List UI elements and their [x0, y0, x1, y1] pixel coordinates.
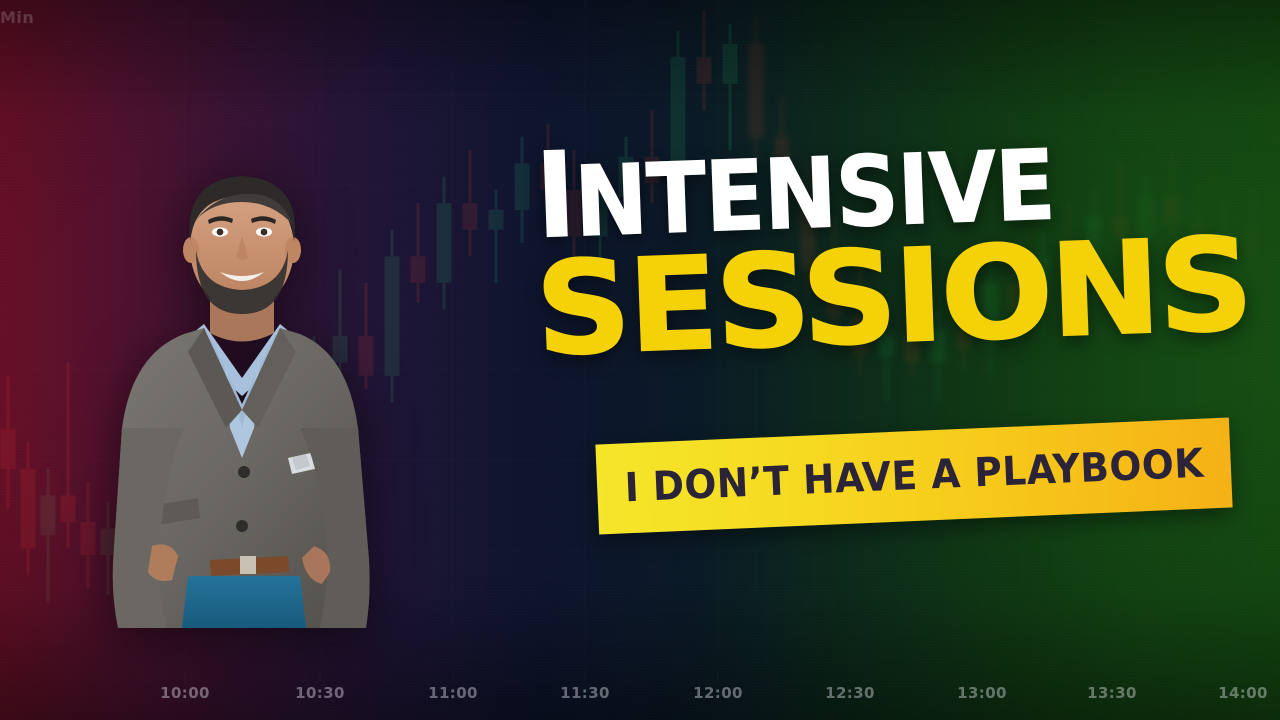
x-axis-tick-label: 11:00	[428, 684, 478, 702]
x-axis-tick-label: 13:00	[957, 684, 1007, 702]
chart-interval-label: Min	[0, 8, 34, 27]
headline-block: INTENSIVE SESSIONS	[536, 142, 1236, 368]
x-axis-tick-label: 11:30	[560, 684, 610, 702]
x-axis-tick-label: 12:30	[825, 684, 875, 702]
x-axis-tick-label: 10:30	[295, 684, 345, 702]
presenter-photo	[92, 128, 392, 628]
title-line-sessions: SESSIONS	[534, 227, 1259, 368]
x-axis-tick-label: 13:30	[1087, 684, 1137, 702]
x-axis-tick-label: 14:00	[1218, 684, 1268, 702]
x-axis-tick-label: 10:00	[160, 684, 210, 702]
thumbnail-canvas: Min 10:0010:3011:0011:3012:0012:3013:001…	[0, 0, 1280, 720]
x-axis-tick-label: 12:00	[693, 684, 743, 702]
subtitle-banner-text: I DON’T HAVE A PLAYBOOK	[623, 441, 1204, 512]
